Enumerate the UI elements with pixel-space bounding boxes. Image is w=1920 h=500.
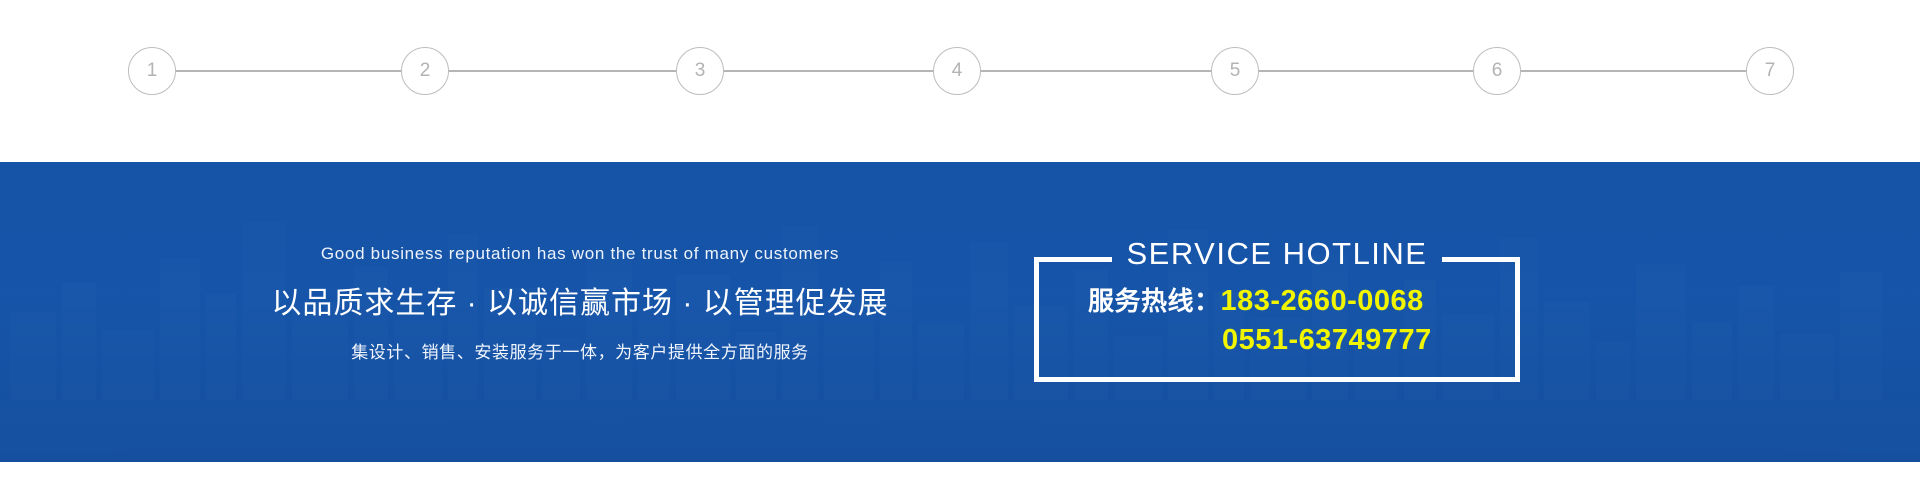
slogan-subline: 集设计、销售、安装服务于一体，为客户提供全方面的服务 [220, 338, 940, 363]
promo-banner: Good business reputation has won the tru… [0, 162, 1920, 462]
step-item-7[interactable]: 7 [1746, 47, 1794, 95]
step-connector-6-7 [1519, 70, 1746, 72]
step-item-2[interactable]: 2 [401, 47, 449, 95]
slogan-english: Good business reputation has won the tru… [220, 244, 940, 264]
hotline-row-primary: 服务热线： 183-2660-0068 [1034, 281, 1520, 318]
hotline-numbers: 服务热线： 183-2660-0068 0551-63749777 [1034, 281, 1520, 357]
step-connector-5-6 [1257, 70, 1473, 72]
service-hotline-box: SERVICE HOTLINE 服务热线： 183-2660-0068 0551… [1034, 257, 1520, 382]
slogan-headline: 以品质求生存 · 以诚信赢市场 · 以管理促发展 [220, 278, 940, 322]
step-connector-2-3 [448, 70, 678, 72]
step-connector-3-4 [722, 70, 934, 72]
step-item-5[interactable]: 5 [1211, 47, 1259, 95]
step-item-3[interactable]: 3 [676, 47, 724, 95]
hotline-phone-secondary[interactable]: 0551-63749777 [1222, 324, 1432, 357]
step-item-1[interactable]: 1 [128, 47, 176, 95]
slogan-block: Good business reputation has won the tru… [220, 244, 940, 363]
hotline-label: 服务热线： [1088, 281, 1221, 318]
hotline-border-bottom [1034, 377, 1520, 382]
step-connector-4-5 [979, 70, 1212, 72]
step-connector-1-2 [174, 70, 404, 72]
stepper-band: 1 2 3 4 5 6 7 [0, 0, 1920, 162]
pagination-stepper[interactable]: 1 2 3 4 5 6 7 [128, 47, 1794, 95]
hotline-row-secondary: 0551-63749777 [1034, 324, 1520, 357]
step-item-6[interactable]: 6 [1473, 47, 1521, 95]
hotline-phone-primary[interactable]: 183-2660-0068 [1221, 285, 1424, 318]
hotline-title: SERVICE HOTLINE [1034, 236, 1520, 272]
step-item-4[interactable]: 4 [933, 47, 981, 95]
